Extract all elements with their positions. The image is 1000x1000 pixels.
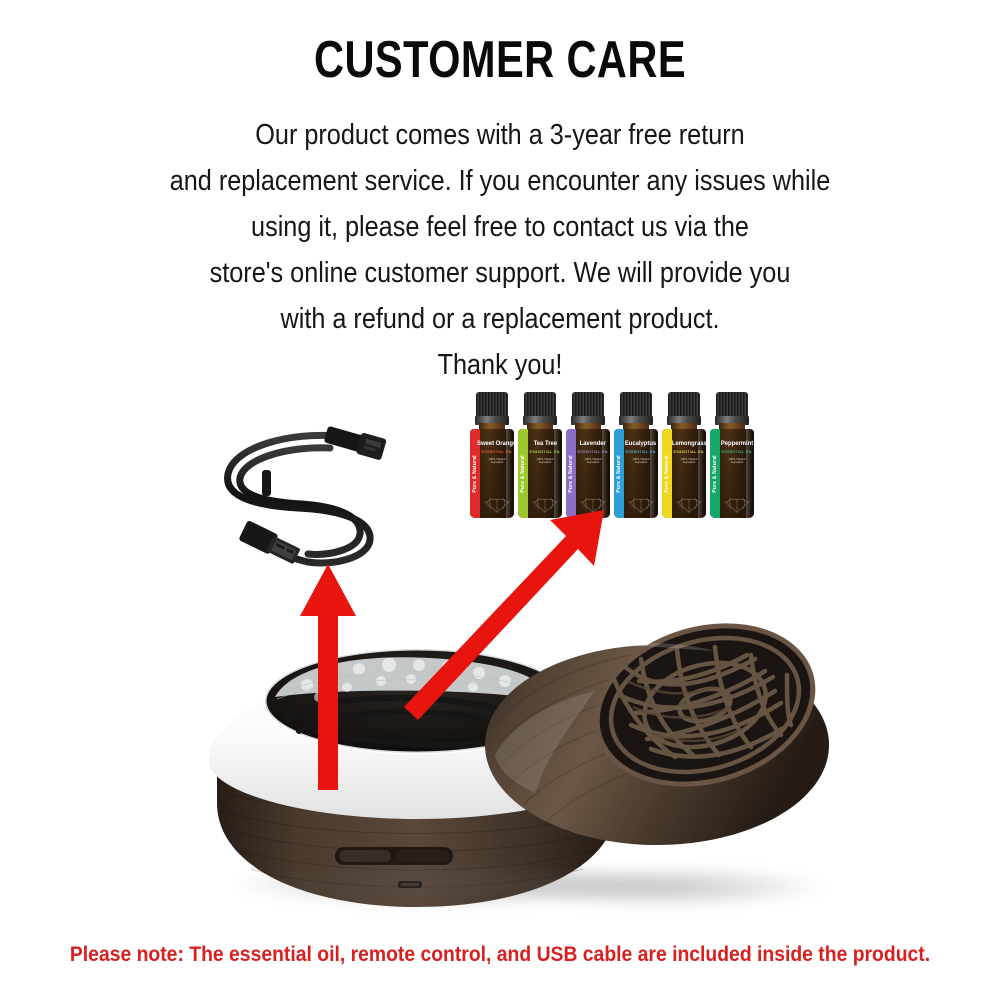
oil-bottle: Pure & Natural Tea Tree ESSENTIAL OIL 10… bbox=[518, 392, 562, 518]
aroma-diffuser-image bbox=[195, 615, 835, 935]
bottle-side-strip: Pure & Natural bbox=[566, 429, 576, 518]
oil-bottle: Pure & Natural Eucalyptus ESSENTIAL OIL … bbox=[614, 392, 658, 518]
bottle-strip-text: Pure & Natural bbox=[664, 455, 670, 493]
bottle-side-strip: Pure & Natural bbox=[614, 429, 624, 518]
product-marketing-image: CUSTOMER CARE Our product comes with a 3… bbox=[0, 0, 1000, 1000]
page-title: CUSTOMER CARE bbox=[100, 30, 900, 90]
footer-note: Please note: The essential oil, remote c… bbox=[50, 942, 950, 967]
bottle-ornament-icon bbox=[673, 489, 705, 515]
usb-cable-image bbox=[212, 408, 422, 588]
bottle-side-strip: Pure & Natural bbox=[662, 429, 672, 518]
bottle-subtitle: ESSENTIAL OIL bbox=[482, 450, 513, 454]
bottle-name: Peppermint bbox=[721, 440, 753, 447]
bottle-strip-text: Pure & Natural bbox=[616, 455, 622, 493]
oil-bottle: Pure & Natural Peppermint ESSENTIAL OIL … bbox=[710, 392, 754, 518]
body-line: store's online customer support. We will… bbox=[65, 250, 935, 296]
body-paragraph: Our product comes with a 3-year free ret… bbox=[0, 112, 1000, 388]
bottle-side-strip: Pure & Natural bbox=[710, 429, 720, 518]
bottle-subtitle: ESSENTIAL OIL bbox=[674, 450, 705, 454]
bottle-strip-text: Pure & Natural bbox=[472, 455, 478, 493]
bottle-subtitle: ESSENTIAL OIL bbox=[626, 450, 657, 454]
bottle-name: Lemongrass bbox=[672, 440, 706, 447]
bottle-ornament-icon bbox=[529, 489, 561, 515]
bottle-fine-print: 100% Natural Ingredient bbox=[681, 458, 698, 465]
oil-bottle: Pure & Natural Lemongrass ESSENTIAL OIL … bbox=[662, 392, 706, 518]
body-line: Our product comes with a 3-year free ret… bbox=[65, 112, 935, 158]
diffuser-lid bbox=[485, 615, 832, 845]
bottle-fine-print: 100% Natural Ingredient bbox=[633, 458, 650, 465]
bottle-fine-print: 100% Natural Ingredient bbox=[537, 458, 554, 465]
bottle-cap-icon bbox=[572, 392, 604, 425]
bottle-cap-icon bbox=[476, 392, 508, 425]
oil-bottle: Pure & Natural Lavender ESSENTIAL OIL 10… bbox=[566, 392, 610, 518]
bottle-ornament-icon bbox=[625, 489, 657, 515]
bottle-name: Sweet Orange bbox=[477, 440, 514, 447]
bottle-subtitle: ESSENTIAL OIL bbox=[578, 450, 609, 454]
body-line: Thank you! bbox=[65, 342, 935, 388]
bottle-fine-print: 100% Natural Ingredient bbox=[729, 458, 746, 465]
bottle-fine-print: 100% Natural Ingredient bbox=[585, 458, 602, 465]
bottle-ornament-icon bbox=[481, 489, 513, 515]
body-line: with a refund or a replacement product. bbox=[65, 296, 935, 342]
bottle-subtitle: ESSENTIAL OIL bbox=[722, 450, 753, 454]
body-line: and replacement service. If you encounte… bbox=[65, 158, 935, 204]
bottle-cap-icon bbox=[524, 392, 556, 425]
bottle-strip-text: Pure & Natural bbox=[712, 455, 718, 493]
body-line: using it, please feel free to contact us… bbox=[65, 204, 935, 250]
bottle-side-strip: Pure & Natural bbox=[518, 429, 528, 518]
bottle-cap-icon bbox=[620, 392, 652, 425]
bottle-name: Lavender bbox=[580, 440, 606, 447]
bottle-strip-text: Pure & Natural bbox=[520, 455, 526, 493]
bottle-name: Tea Tree bbox=[533, 440, 556, 447]
bottle-subtitle: ESSENTIAL OIL bbox=[530, 450, 561, 454]
essential-oil-bottle-set: Pure & Natural Sweet Orange ESSENTIAL OI… bbox=[470, 392, 760, 518]
bottle-name: Eucalyptus bbox=[625, 440, 656, 447]
bottle-strip-text: Pure & Natural bbox=[568, 455, 574, 493]
bottle-fine-print: 100% Natural Ingredient bbox=[489, 458, 506, 465]
bottle-cap-icon bbox=[668, 392, 700, 425]
bottle-cap-icon bbox=[716, 392, 748, 425]
lid-shadow bbox=[495, 865, 825, 909]
bottle-ornament-icon bbox=[577, 489, 609, 515]
oil-bottle: Pure & Natural Sweet Orange ESSENTIAL OI… bbox=[470, 392, 514, 518]
bottle-ornament-icon bbox=[721, 489, 753, 515]
